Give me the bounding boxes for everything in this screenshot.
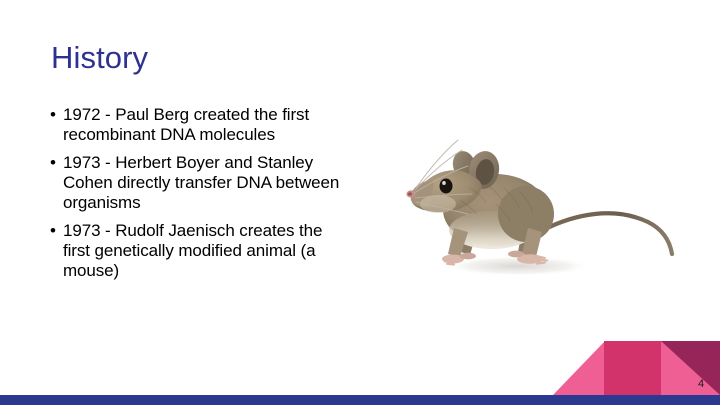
list-item: • 1973 - Herbert Boyer and Stanley Cohen…: [48, 153, 348, 213]
footer-bar: [0, 395, 720, 405]
list-item-text: 1973 - Herbert Boyer and Stanley Cohen d…: [63, 153, 339, 212]
mouse-nose-tip: [408, 192, 412, 195]
slide-number: 4: [694, 377, 708, 391]
list-item: • 1972 - Paul Berg created the first rec…: [48, 105, 348, 145]
bullet-marker-icon: •: [50, 105, 56, 125]
list-item-text: 1973 - Rudolf Jaenisch creates the first…: [63, 221, 322, 280]
mouse-haunch: [498, 186, 554, 242]
page-title: History: [51, 40, 148, 76]
bullet-marker-icon: •: [50, 153, 56, 173]
slide-canvas: History • 1972 - Paul Berg created the f…: [0, 0, 720, 405]
mouse-tail: [543, 213, 672, 254]
mouse-eye-highlight: [442, 181, 446, 185]
bullet-marker-icon: •: [50, 221, 56, 241]
mouse-eye: [440, 179, 453, 194]
mouse-front-foot-far: [460, 253, 476, 260]
list-item-text: 1972 - Paul Berg created the first recom…: [63, 105, 309, 144]
bullet-list: • 1972 - Paul Berg created the first rec…: [48, 105, 348, 281]
decorative-triangle-left: [553, 341, 605, 395]
list-item: • 1973 - Rudolf Jaenisch creates the fir…: [48, 221, 348, 281]
decorative-band-center: [604, 341, 661, 395]
mouse-hind-foot-far: [508, 251, 524, 258]
mouse-photo: [400, 118, 700, 288]
